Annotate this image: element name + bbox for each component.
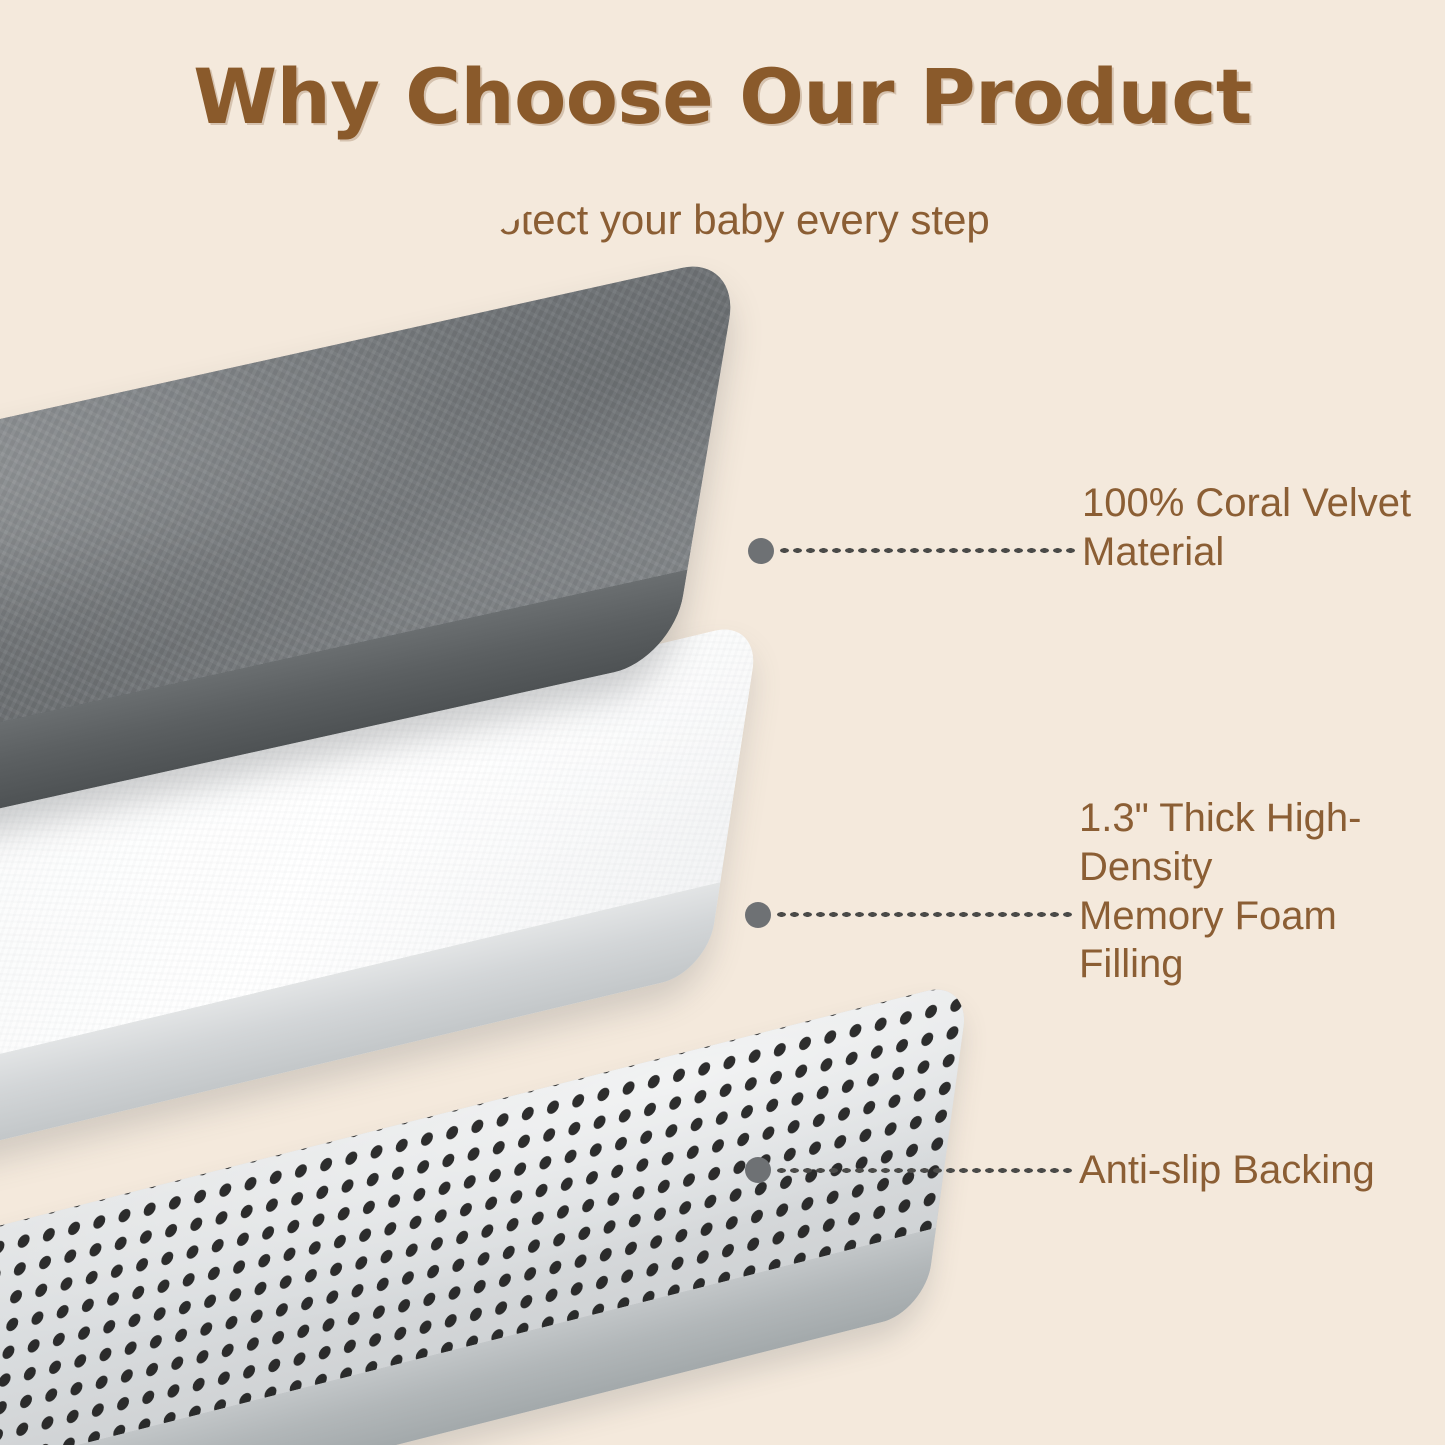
callout-leader-line (775, 911, 1075, 918)
product-layer-stack (0, 0, 1445, 1445)
callout-label-coral-velvet: 100% Coral Velvet Material (1082, 479, 1411, 577)
callout-leader-line (778, 547, 1078, 554)
callout-anti-slip-backing: Anti-slip Backing (745, 1146, 1375, 1195)
callout-marker-dot-icon (745, 902, 771, 928)
callout-memory-foam: 1.3" Thick High-Density Memory Foam Fill… (745, 840, 1445, 989)
callout-marker-dot-icon (745, 1157, 771, 1183)
callout-marker-dot-icon (748, 538, 774, 564)
callout-coral-velvet: 100% Coral Velvet Material (748, 525, 1411, 577)
callout-label-anti-slip-backing: Anti-slip Backing (1079, 1146, 1375, 1195)
callout-label-memory-foam: 1.3" Thick High-Density Memory Foam Fill… (1079, 794, 1445, 989)
callout-leader-line (775, 1167, 1075, 1174)
product-infographic: Why Choose Our Product Protect your baby… (0, 0, 1445, 1445)
